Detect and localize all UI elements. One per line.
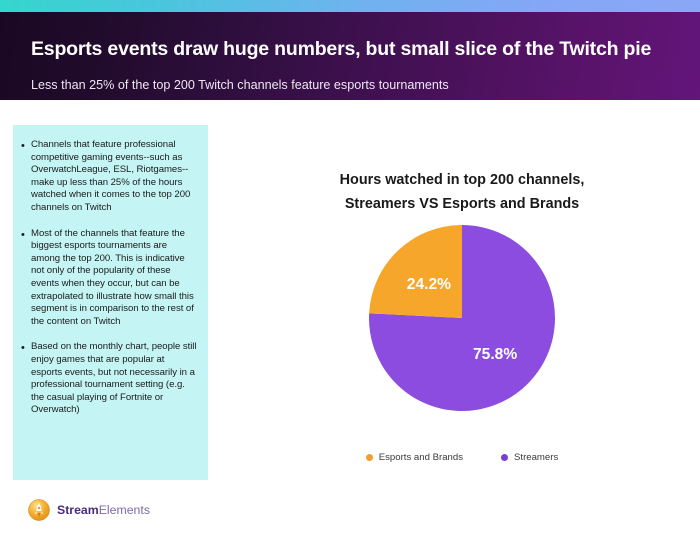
legend-swatch-icon [366,454,373,461]
pie-slice-label-streamers: 75.8% [473,346,517,363]
rocket-icon [28,499,50,521]
pie-slice-esports-and-brands[interactable] [369,225,462,318]
chart-title: Hours watched in top 200 channels, Strea… [236,168,688,216]
pie-chart-panel: Hours watched in top 200 channels, Strea… [236,130,688,480]
top-accent-bar [0,0,700,12]
list-item: • Channels that feature professional com… [21,139,198,215]
list-item: • Based on the monthly chart, people sti… [21,341,198,417]
pie-chart-plot: 75.8% 24.2% [236,220,688,415]
list-item-text: Channels that feature professional compe… [31,139,198,215]
list-item-text: Most of the channels that feature the bi… [31,228,198,329]
chart-legend: Esports and Brands Streamers [236,452,688,463]
page-subtitle: Less than 25% of the top 200 Twitch chan… [31,78,449,92]
pie-svg: 75.8% 24.2% [362,220,562,416]
brand-name-primary: Stream [57,503,99,517]
chart-title-line2: Streamers VS Esports and Brands [236,192,688,216]
legend-swatch-icon [501,454,508,461]
brand-name-secondary: Elements [99,503,150,517]
legend-label: Streamers [514,452,558,463]
notes-list: • Channels that feature professional com… [13,125,208,440]
chart-title-line1: Hours watched in top 200 channels, [340,172,585,188]
list-item: • Most of the channels that feature the … [21,228,198,329]
header-banner: Esports events draw huge numbers, but sm… [0,12,700,100]
legend-item-streamers[interactable]: Streamers [501,452,558,463]
pie-slice-label-esports-and-brands: 24.2% [407,276,451,293]
legend-item-esports-and-brands[interactable]: Esports and Brands [366,452,463,463]
bullet-icon: • [21,341,31,417]
bullet-icon: • [21,228,31,329]
page-title: Esports events draw huge numbers, but sm… [31,38,651,61]
brand-logo[interactable]: StreamElements [28,499,150,521]
legend-label: Esports and Brands [379,452,463,463]
list-item-text: Based on the monthly chart, people still… [31,341,198,417]
bullet-icon: • [21,139,31,215]
infographic-page: Esports events draw huge numbers, but sm… [0,0,700,540]
brand-name: StreamElements [57,503,150,517]
notes-panel: • Channels that feature professional com… [13,125,208,480]
